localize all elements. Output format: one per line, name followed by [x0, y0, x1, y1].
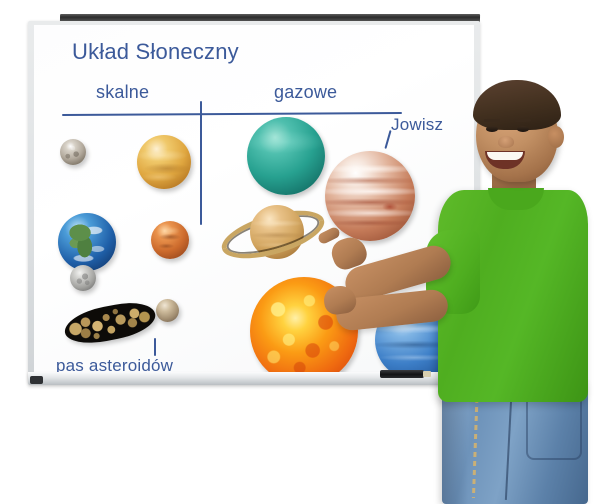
photo-scene: Układ Słoneczny skalne gazowe Jowisz pas… [0, 0, 600, 504]
planet-mercury[interactable] [60, 139, 86, 165]
planet-earth[interactable] [58, 213, 116, 271]
boy-nose [498, 136, 514, 148]
planet-saturn[interactable] [220, 197, 326, 271]
planet-uranus[interactable] [247, 117, 325, 195]
boy-eye-left [486, 126, 498, 132]
planet-mars[interactable] [151, 221, 189, 259]
moon-body[interactable] [70, 265, 96, 291]
label-gas-planets: gazowe [274, 82, 337, 103]
boy-eye-right [517, 126, 529, 132]
label-rocky-planets: skalne [96, 82, 149, 103]
planet-pluto[interactable] [156, 299, 179, 322]
jeans-pocket [526, 400, 582, 460]
divider-line-vertical [200, 101, 202, 225]
tray-end-cap-left [30, 376, 43, 384]
asteroid-callout-line [154, 338, 156, 356]
boy-hair [473, 80, 561, 130]
boy-ear [548, 126, 564, 148]
boy-eyebrow-left [484, 119, 500, 122]
divider-line-horizontal [62, 112, 402, 116]
planet-venus[interactable] [137, 135, 191, 189]
label-asteroid-belt-callout: pas asteroidów [56, 356, 173, 372]
boy-figure [380, 80, 600, 504]
asteroid-belt-body[interactable] [62, 298, 159, 349]
boy-teeth [487, 152, 523, 160]
board-title: Układ Słoneczny [72, 39, 239, 65]
